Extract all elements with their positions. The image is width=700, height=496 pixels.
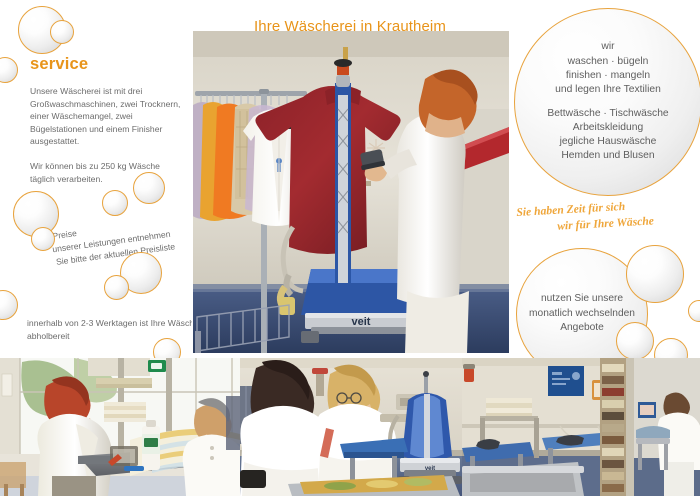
- service-heading: service: [30, 55, 88, 74]
- services-line-5: Arbeitskleidung: [532, 121, 685, 135]
- services-line-2: finishen · mangeln: [532, 69, 685, 83]
- bubble-decor: [133, 172, 165, 204]
- spacer: [532, 98, 685, 107]
- pickup-note: innerhalb von 2-3 Werktagen ist Ihre Wäs…: [27, 317, 217, 342]
- services-line-7: Hemden und Blusen: [532, 149, 685, 163]
- bubble-decor: [616, 322, 654, 360]
- services-line-1: waschen · bügeln: [532, 55, 685, 69]
- bottom-photo-illustration: veit: [0, 358, 700, 496]
- bubble-decor: [31, 227, 55, 251]
- page-title: Ihre Wäscherei in Krautheim: [192, 18, 508, 35]
- services-line-6: jegliche Hauswäsche: [532, 135, 685, 149]
- bubble-decor: [104, 275, 129, 300]
- services-intro: wir: [532, 40, 685, 54]
- service-paragraph-1: Unsere Wäscherei ist mit drei Großwaschm…: [30, 85, 182, 148]
- offers-line-1: nutzen Sie unsere: [527, 292, 636, 307]
- machine-brand-label: veit: [352, 316, 371, 328]
- script-slogan: Sie haben Zeit für sich wir für Ihre Wäs…: [516, 195, 696, 237]
- flyer-page: service Unsere Wäscherei ist mit drei Gr…: [0, 0, 700, 496]
- main-photo-illustration: veit: [193, 31, 509, 353]
- bubble-decor: [102, 190, 128, 216]
- main-photo: veit: [192, 30, 510, 354]
- bottom-photo-strip: veit: [0, 358, 700, 496]
- services-line-4: Bettwäsche · Tischwäsche: [532, 107, 685, 121]
- services-circle: wir waschen · bügeln finishen · mangeln …: [514, 8, 700, 196]
- bubble-decor: [688, 300, 700, 322]
- offers-line-2: monatlich wechselnden: [527, 307, 636, 322]
- bubble-decor: [626, 245, 684, 303]
- bubble-decor: [0, 57, 18, 83]
- bubble-decor: [0, 290, 18, 320]
- services-line-3: und legen Ihre Textilien: [532, 83, 685, 97]
- services-circle-text: wir waschen · bügeln finishen · mangeln …: [532, 40, 685, 163]
- bubble-decor: [50, 20, 74, 44]
